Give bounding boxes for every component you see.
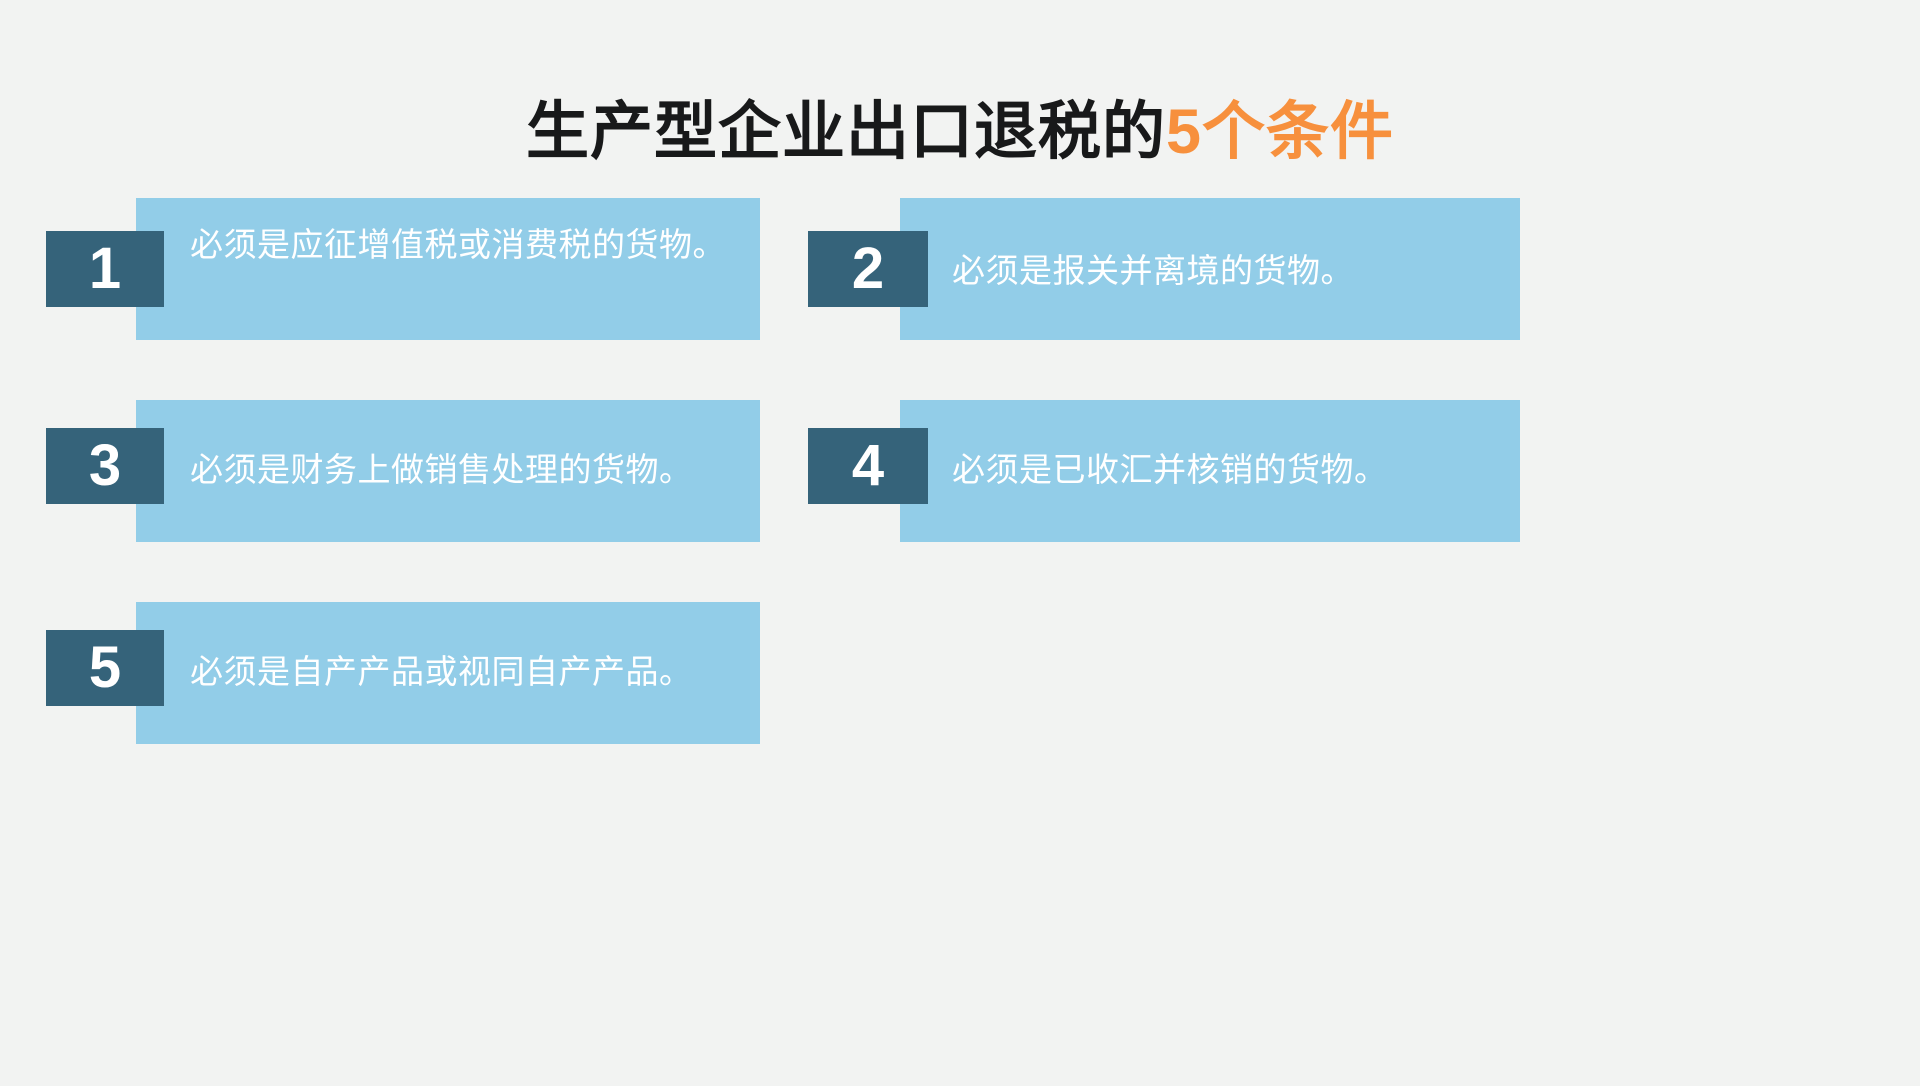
condition-card-list: 1 必须是应征增值税或消费税的货物。 2 必须是报关并离境的货物。 3 必须是财… <box>0 0 1920 1086</box>
condition-card-1-panel <box>136 198 760 340</box>
condition-card-4-number-badge: 4 <box>808 428 928 504</box>
condition-card-5-number-badge: 5 <box>46 630 164 706</box>
condition-card-5-text: 必须是自产产品或视同自产产品。 <box>190 651 756 693</box>
condition-card-3-text: 必须是财务上做销售处理的货物。 <box>190 449 756 491</box>
condition-card-3-number-badge: 3 <box>46 428 164 504</box>
condition-card-2-text: 必须是报关并离境的货物。 <box>952 250 1508 292</box>
condition-card-1-text: 必须是应征增值税或消费税的货物。 <box>190 224 746 266</box>
condition-card-2-number-badge: 2 <box>808 231 928 307</box>
condition-card-1-number-badge: 1 <box>46 231 164 307</box>
condition-card-4-text: 必须是已收汇并核销的货物。 <box>952 449 1508 491</box>
